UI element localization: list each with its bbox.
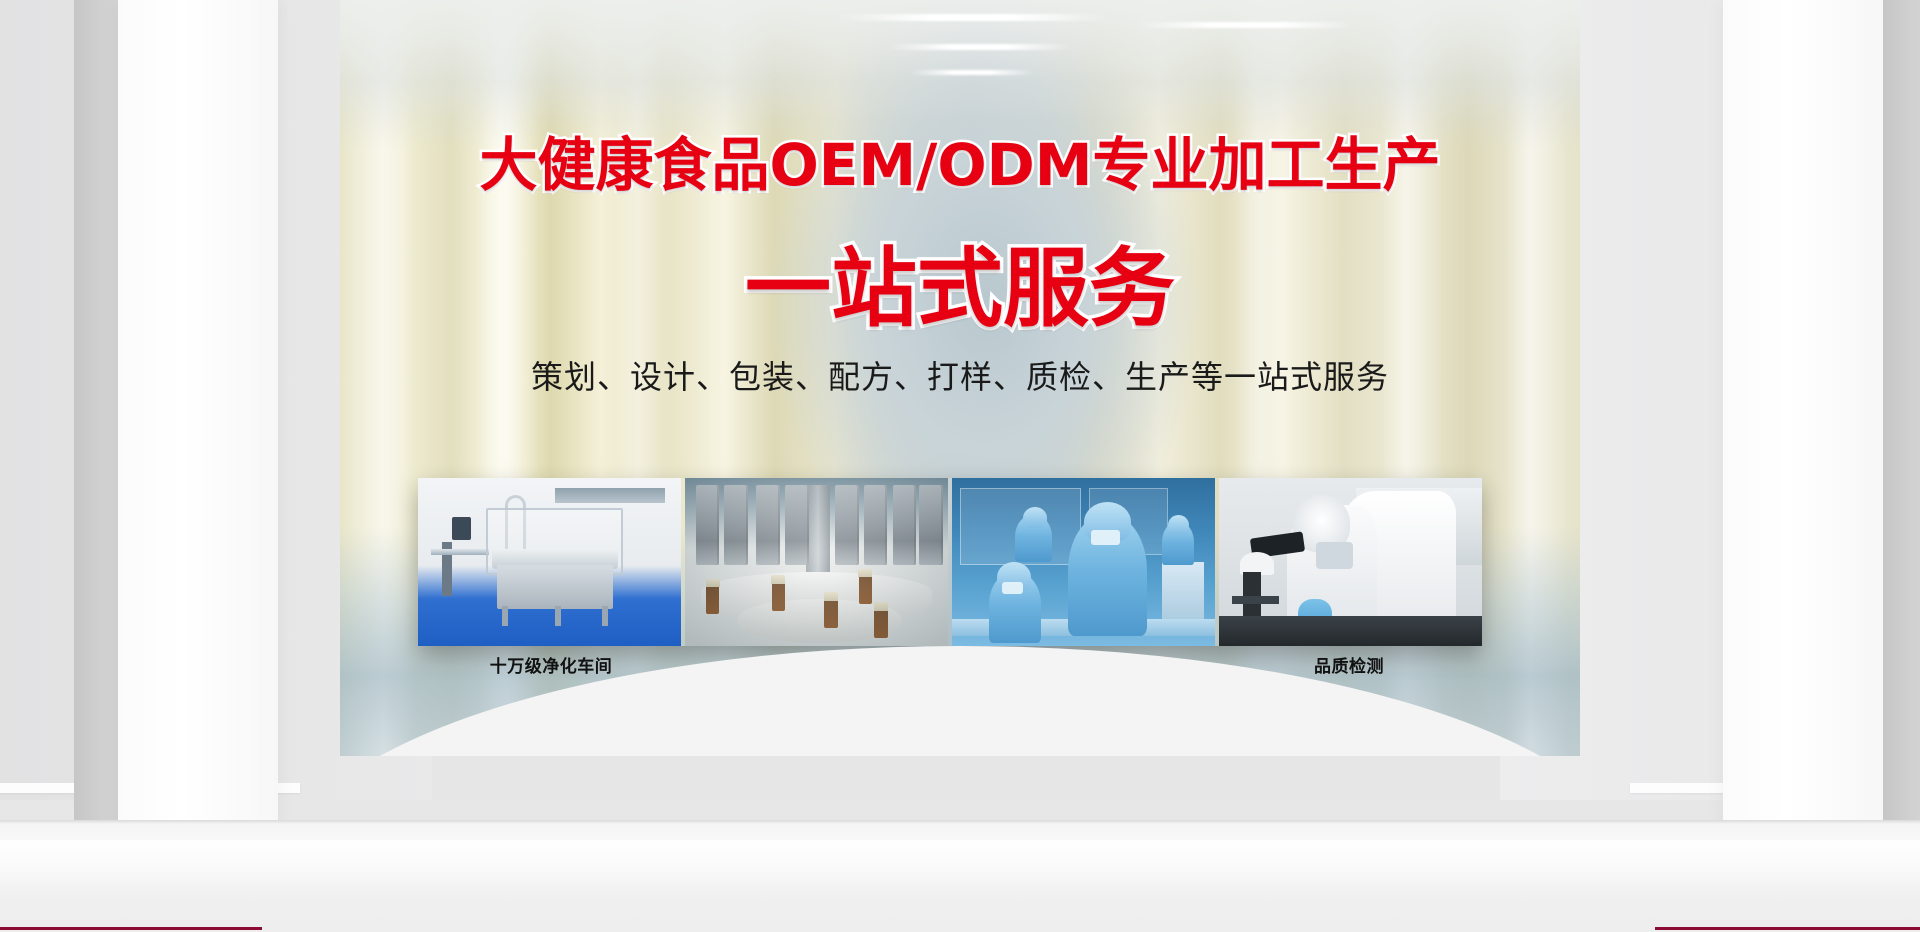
facility-photo-production <box>952 478 1215 646</box>
showroom-floor <box>0 820 1920 932</box>
facility-photo-quality <box>1219 478 1482 646</box>
ceiling-lamp-icon <box>836 14 1109 21</box>
banner-headline-secondary: 一站式服务 <box>340 218 1580 343</box>
bottom-rule-left <box>0 927 262 930</box>
showroom-pillar-right <box>1723 0 1883 860</box>
ceiling-lamp-icon <box>886 44 1072 50</box>
banner-headline-primary: 大健康食品OEM/ODM专业加工生产 <box>340 118 1580 202</box>
facility-photo-cleanroom <box>418 478 681 646</box>
showroom-pillar-left <box>118 0 278 860</box>
ceiling-lamp-icon <box>910 70 1034 75</box>
banner-subtitle: 策划、设计、包装、配方、打样、质检、生产等一站式服务 <box>340 352 1580 398</box>
facility-photo-strip <box>418 478 1482 646</box>
banner-mockup-stage: 大健康食品OEM/ODM专业加工生产 一站式服务 策划、设计、包装、配方、打样、… <box>0 0 1920 932</box>
bottom-rule-right <box>1655 927 1920 930</box>
promo-banner: 大健康食品OEM/ODM专业加工生产 一站式服务 策划、设计、包装、配方、打样、… <box>340 0 1580 756</box>
facility-photo-equipment <box>685 478 948 646</box>
ceiling-lamp-icon <box>1134 22 1357 28</box>
